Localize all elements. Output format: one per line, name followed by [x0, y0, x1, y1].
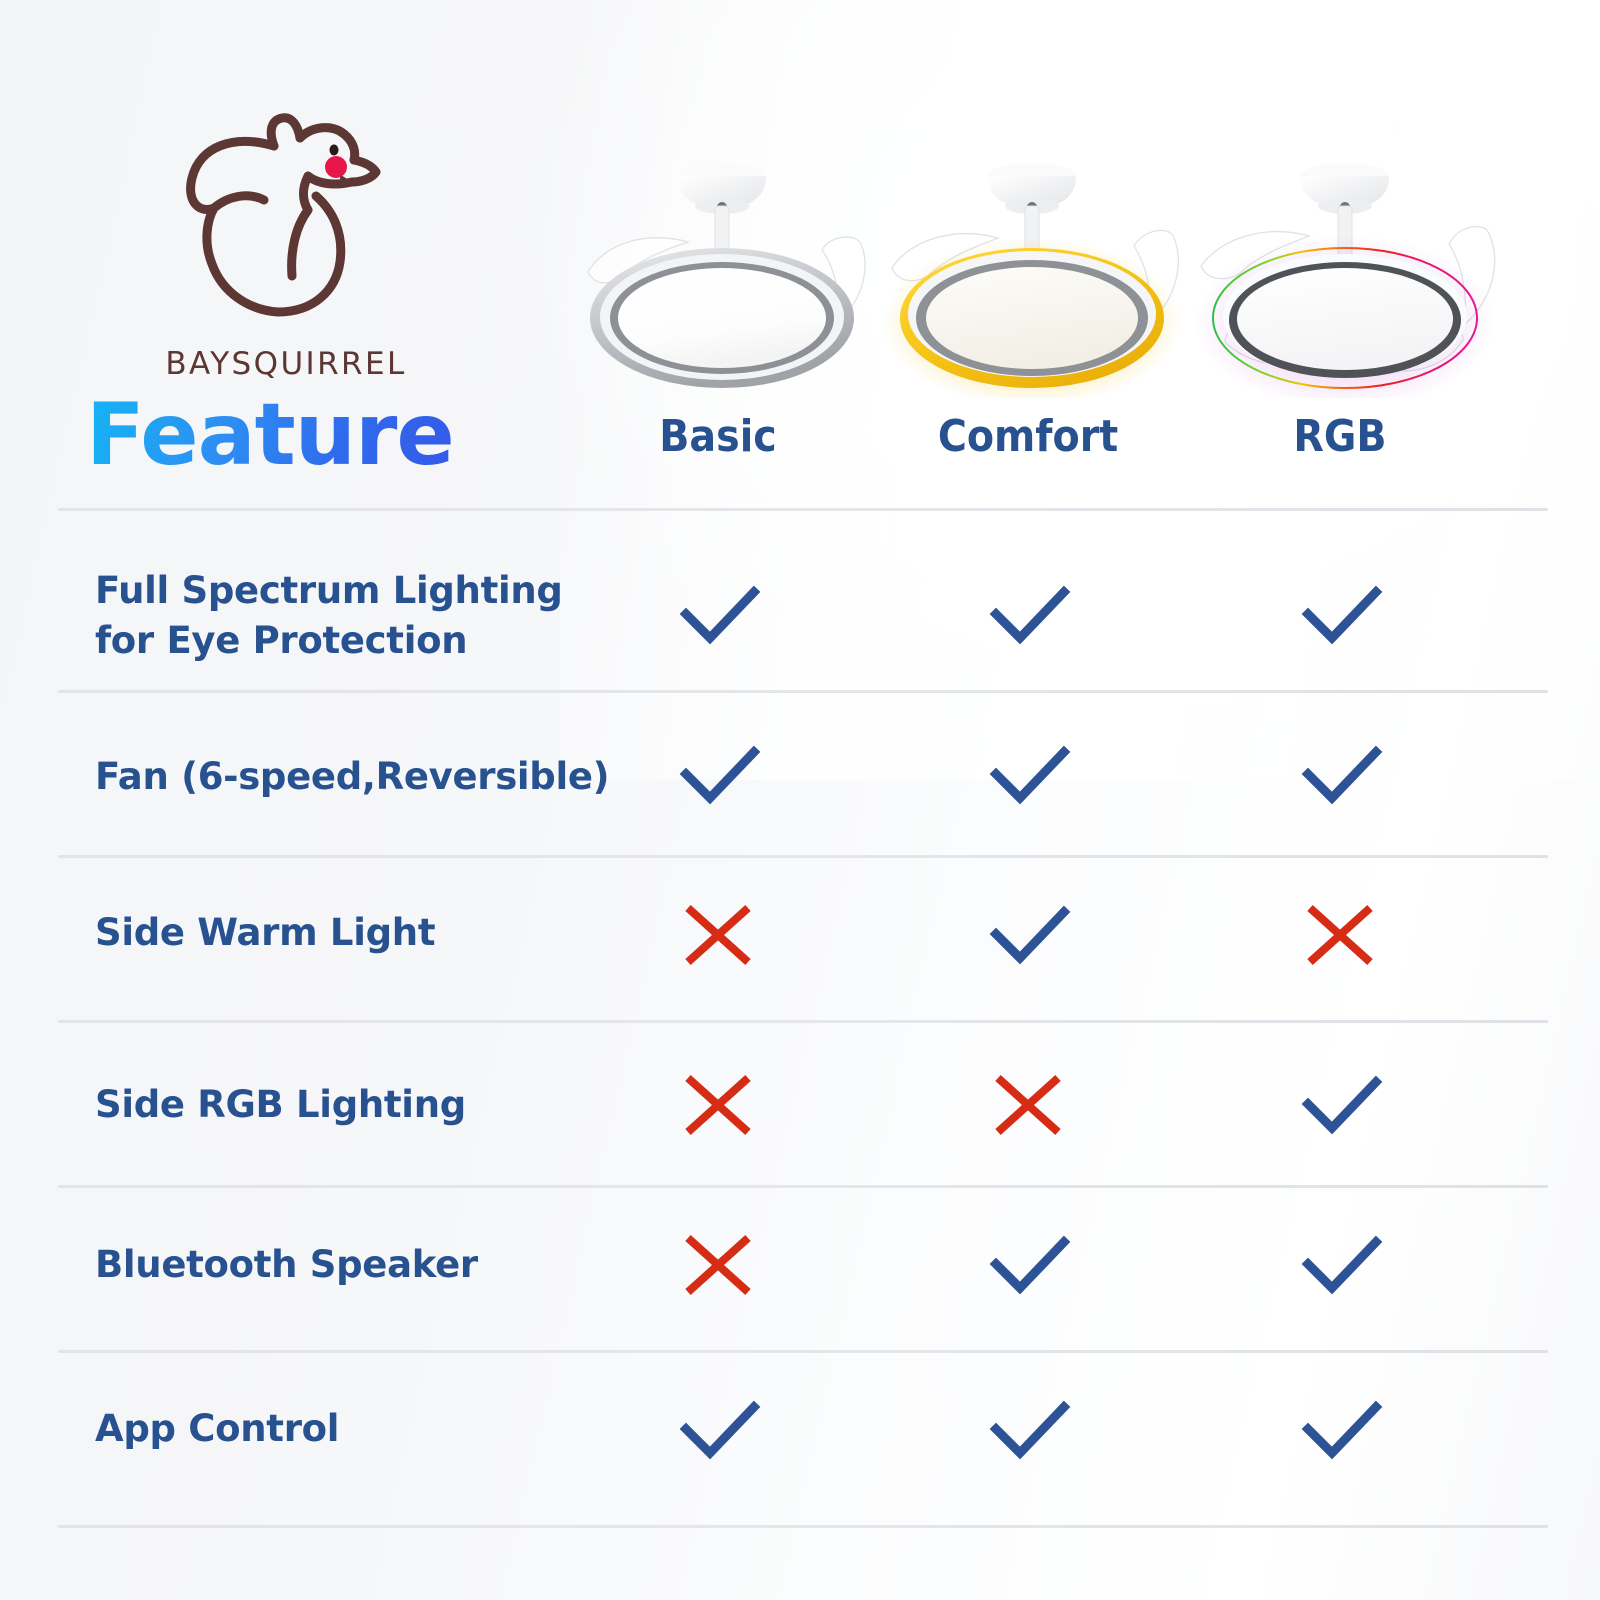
table-divider: [58, 690, 1548, 693]
table-divider: [58, 855, 1548, 858]
cell-comfort-check: [968, 890, 1088, 980]
cell-comfort-check: [968, 1385, 1088, 1475]
cell-basic-check: [658, 570, 778, 660]
table-divider: [58, 1020, 1548, 1023]
row-label: Fan (6-speed,Reversible): [95, 752, 655, 802]
row-label: Bluetooth Speaker: [95, 1240, 615, 1290]
table-divider: [58, 1350, 1548, 1353]
cell-basic-check: [658, 730, 778, 820]
row-label-line: for Eye Protection: [95, 619, 467, 662]
cell-rgb-cross: [1280, 890, 1400, 980]
product-image-rgb: [1165, 150, 1525, 398]
cell-basic-cross: [658, 1060, 778, 1150]
cell-basic-check: [658, 1385, 778, 1475]
table-divider: [58, 1525, 1548, 1528]
product-image-comfort: [852, 150, 1212, 398]
cell-rgb-check: [1280, 1385, 1400, 1475]
cell-rgb-check: [1280, 1220, 1400, 1310]
row-label: Full Spectrum Lighting for Eye Protectio…: [95, 566, 615, 665]
ceiling-fan-basic-icon: [542, 150, 902, 398]
row-label: Side RGB Lighting: [95, 1080, 615, 1130]
row-label: App Control: [95, 1404, 615, 1454]
row-label: Side Warm Light: [95, 908, 615, 958]
table-divider: [58, 1185, 1548, 1188]
product-image-basic: [542, 150, 902, 398]
cell-basic-cross: [658, 890, 778, 980]
table-divider: [58, 508, 1548, 511]
ceiling-fan-comfort-icon: [852, 150, 1212, 398]
column-header-comfort: Comfort: [878, 415, 1178, 459]
row-label-line: Full Spectrum Lighting: [95, 569, 563, 612]
page-title: Feature: [86, 392, 454, 478]
cell-rgb-check: [1280, 730, 1400, 820]
product-images: [0, 150, 1600, 398]
comparison-page: BAYSQUIRREL Feature: [0, 0, 1600, 1600]
cell-comfort-check: [968, 730, 1088, 820]
column-header-rgb: RGB: [1190, 415, 1490, 459]
cell-rgb-check: [1280, 1060, 1400, 1150]
cell-comfort-check: [968, 570, 1088, 660]
cell-basic-cross: [658, 1220, 778, 1310]
cell-comfort-check: [968, 1220, 1088, 1310]
ceiling-fan-rgb-icon: [1165, 150, 1525, 398]
column-header-basic: Basic: [568, 415, 868, 459]
cell-rgb-check: [1280, 570, 1400, 660]
cell-comfort-cross: [968, 1060, 1088, 1150]
